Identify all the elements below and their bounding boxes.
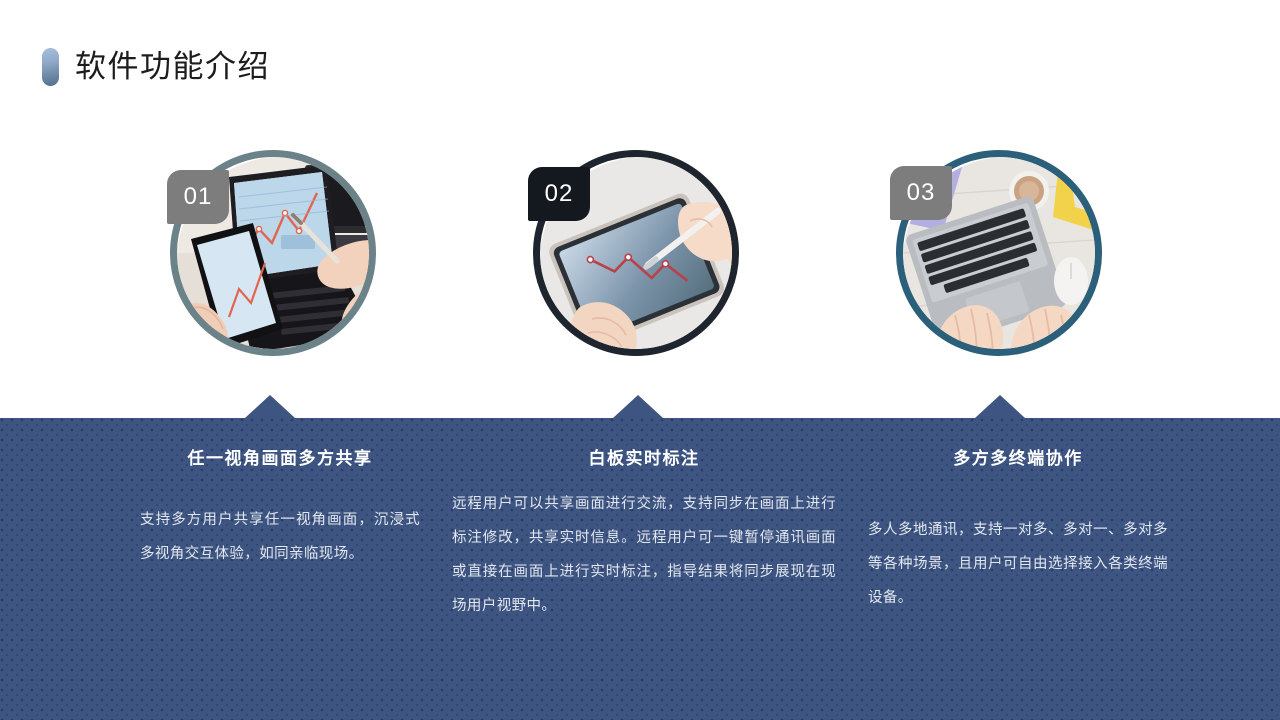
- title-text: 软件功能介绍: [75, 48, 270, 86]
- badge-01: 01: [167, 170, 229, 224]
- page-title: 软件功能介绍: [42, 44, 270, 90]
- feature-column-3: 多方多终端协作 多人多地通讯，支持一对多、多对一、多对多等各种场景，且用户可自由…: [868, 444, 1168, 615]
- feature-body-1: 支持多方用户共享任一视角画面，沉浸式多视角交互体验，如同亲临现场。: [140, 503, 420, 571]
- feature-heading-1: 任一视角画面多方共享: [140, 444, 420, 469]
- feature-body-2: 远程用户可以共享画面进行交流，支持同步在画面上进行标注修改，共享实时信息。远程用…: [452, 487, 836, 623]
- feature-body-3: 多人多地通讯，支持一对多、多对一、多对多等各种场景，且用户可自由选择接入各类终端…: [868, 513, 1168, 615]
- panel-notch-3: [975, 395, 1025, 418]
- badge-03: 03: [890, 166, 952, 220]
- title-bullet-icon: [42, 48, 59, 86]
- feature-column-2: 白板实时标注 远程用户可以共享画面进行交流，支持同步在画面上进行标注修改，共享实…: [452, 444, 836, 623]
- feature-heading-2: 白板实时标注: [452, 444, 836, 469]
- slide-canvas: 软件功能介绍: [0, 0, 1280, 720]
- feature-column-1: 任一视角画面多方共享 支持多方用户共享任一视角画面，沉浸式多视角交互体验，如同亲…: [140, 444, 420, 571]
- panel-notch-2: [613, 395, 663, 418]
- feature-heading-3: 多方多终端协作: [868, 444, 1168, 469]
- feature-description-panel: 任一视角画面多方共享 支持多方用户共享任一视角画面，沉浸式多视角交互体验，如同亲…: [0, 418, 1280, 720]
- panel-notch-1: [245, 395, 295, 418]
- badge-02: 02: [528, 167, 590, 221]
